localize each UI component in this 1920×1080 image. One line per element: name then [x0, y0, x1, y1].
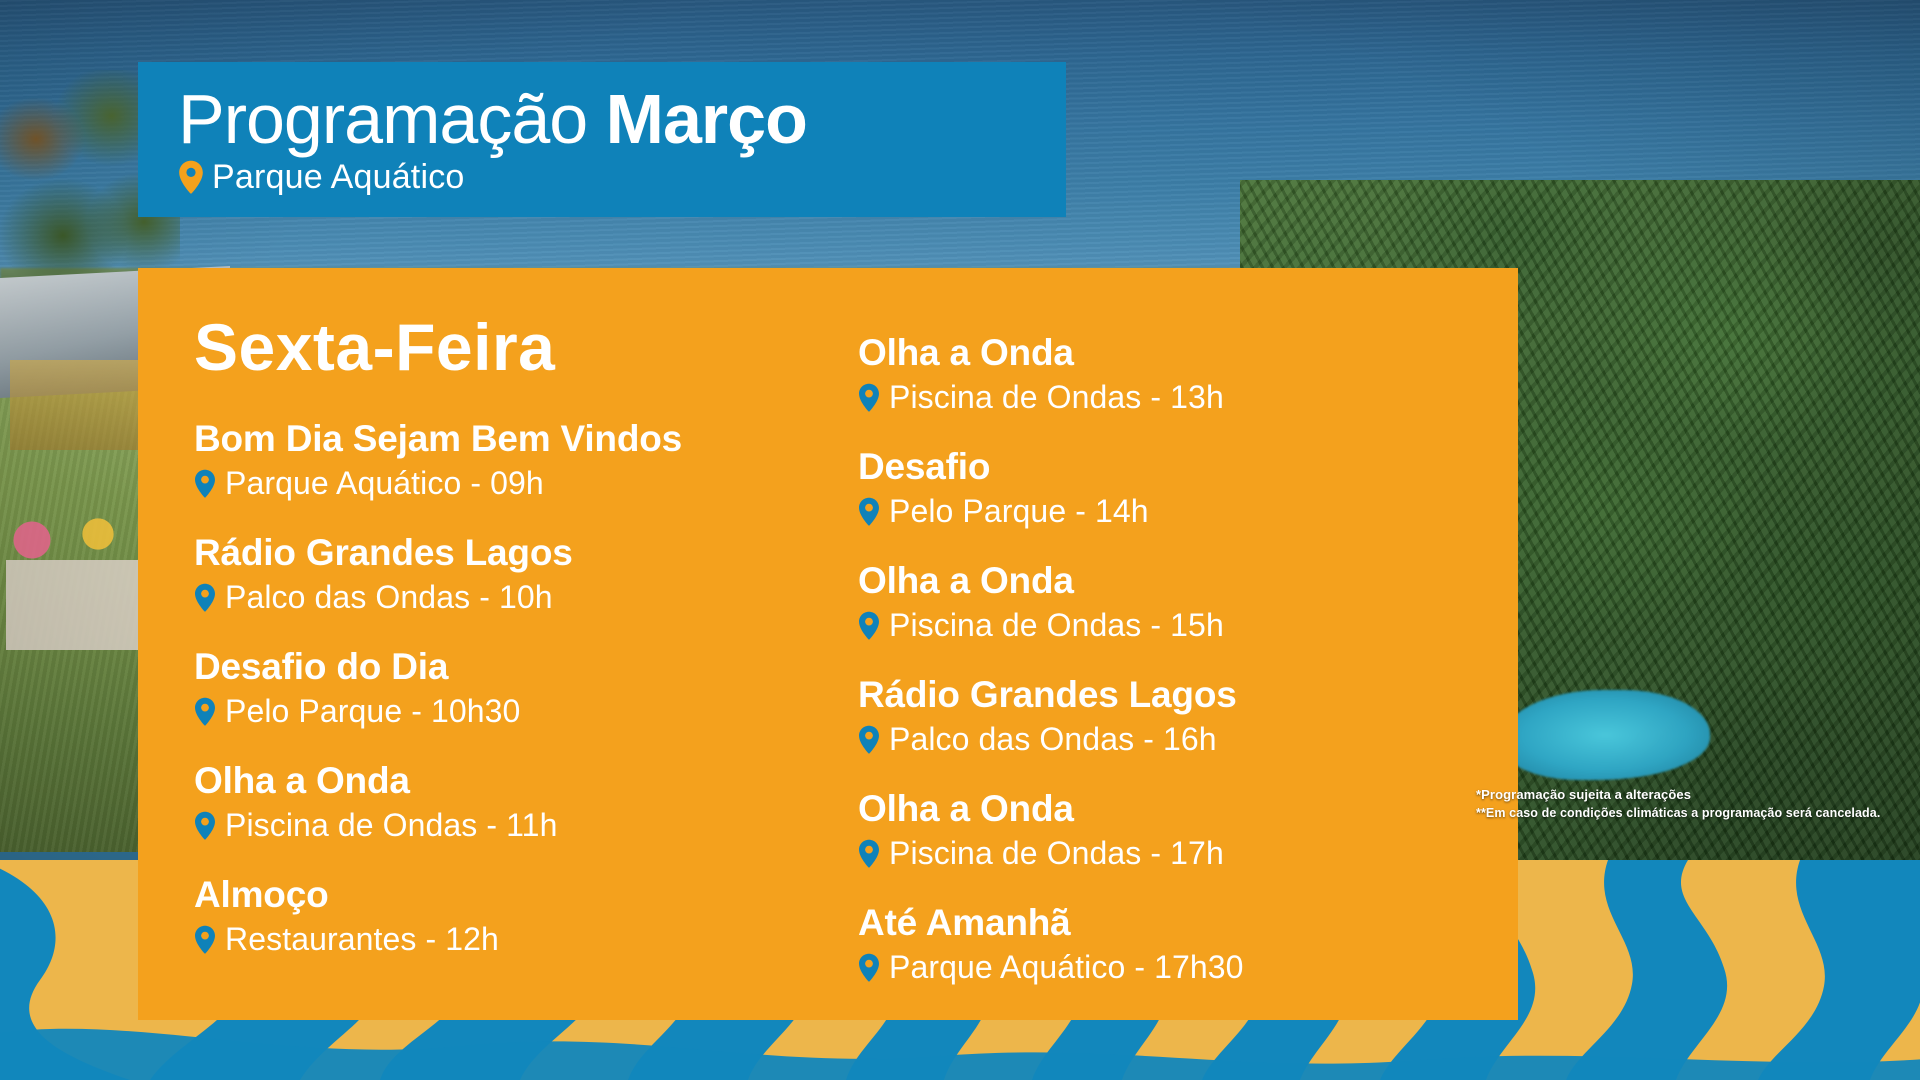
map-pin-icon: [858, 497, 880, 526]
event-location-label: Palco das Ondas - 16h: [889, 719, 1217, 759]
map-pin-icon: [194, 697, 216, 726]
schedule-item: Rádio Grandes Lagos Palco das Ondas - 10…: [194, 530, 798, 617]
event-location: Parque Aquático - 09h: [194, 463, 798, 503]
event-name: Olha a Onda: [194, 758, 798, 803]
pool-water: [1500, 690, 1710, 780]
day-title: Sexta-Feira: [194, 312, 798, 382]
event-location: Pelo Parque - 10h30: [194, 691, 798, 731]
event-name: Almoço: [194, 872, 798, 917]
event-location: Pelo Parque - 14h: [858, 491, 1462, 531]
event-location-label: Palco das Ondas - 10h: [225, 577, 553, 617]
map-pin-icon: [858, 611, 880, 640]
event-name: Olha a Onda: [858, 786, 1462, 831]
event-name: Olha a Onda: [858, 330, 1462, 375]
schedule-column-afternoon: Olha a Onda Piscina de Ondas - 13h Desaf…: [858, 312, 1462, 990]
event-location: Piscina de Ondas - 11h: [194, 805, 798, 845]
title-regular-part: Programação: [178, 80, 606, 158]
header-location: Parque Aquático: [178, 156, 1026, 198]
map-pin-icon: [858, 839, 880, 868]
schedule-item: Bom Dia Sejam Bem Vindos Parque Aquático…: [194, 416, 798, 503]
disclaimer-line-1: *Programação sujeita a alterações: [1476, 786, 1896, 804]
schedule-item: Olha a Onda Piscina de Ondas - 15h: [858, 558, 1462, 645]
event-location-label: Parque Aquático - 17h30: [889, 947, 1244, 987]
map-pin-icon: [858, 383, 880, 412]
schedule-item: Rádio Grandes Lagos Palco das Ondas - 16…: [858, 672, 1462, 759]
schedule-item: Desafio do Dia Pelo Parque - 10h30: [194, 644, 798, 731]
event-location: Restaurantes - 12h: [194, 919, 798, 959]
event-location-label: Restaurantes - 12h: [225, 919, 499, 959]
event-name: Desafio do Dia: [194, 644, 798, 689]
event-location-label: Pelo Parque - 14h: [889, 491, 1149, 531]
schedule-item: Desafio Pelo Parque - 14h: [858, 444, 1462, 531]
schedule-item: Olha a Onda Piscina de Ondas - 17h: [858, 786, 1462, 873]
header-location-label: Parque Aquático: [212, 156, 465, 198]
event-name: Rádio Grandes Lagos: [858, 672, 1462, 717]
map-pin-icon: [194, 469, 216, 498]
event-location-label: Piscina de Ondas - 13h: [889, 377, 1224, 417]
map-pin-icon: [194, 925, 216, 954]
map-pin-icon: [178, 160, 204, 194]
schedule-column-morning: Sexta-Feira Bom Dia Sejam Bem Vindos Par…: [194, 312, 798, 990]
event-name: Desafio: [858, 444, 1462, 489]
playground: [6, 500, 146, 650]
schedule-item: Olha a Onda Piscina de Ondas - 13h: [858, 330, 1462, 417]
event-name: Olha a Onda: [858, 558, 1462, 603]
event-location: Palco das Ondas - 10h: [194, 577, 798, 617]
event-location-label: Parque Aquático - 09h: [225, 463, 544, 503]
event-location: Piscina de Ondas - 13h: [858, 377, 1462, 417]
event-name: Rádio Grandes Lagos: [194, 530, 798, 575]
event-location: Piscina de Ondas - 15h: [858, 605, 1462, 645]
event-location-label: Piscina de Ondas - 11h: [225, 805, 557, 845]
event-location-label: Piscina de Ondas - 17h: [889, 833, 1224, 873]
disclaimer-line-2: **Em caso de condições climáticas a prog…: [1476, 804, 1896, 822]
event-location: Piscina de Ondas - 17h: [858, 833, 1462, 873]
event-location-label: Piscina de Ondas - 15h: [889, 605, 1224, 645]
header-banner: Programação Março Parque Aquático: [138, 62, 1066, 217]
poster-canvas: Programação Março Parque Aquático Sexta-…: [0, 0, 1920, 1080]
map-pin-icon: [858, 725, 880, 754]
map-pin-icon: [194, 811, 216, 840]
event-location: Parque Aquático - 17h30: [858, 947, 1462, 987]
schedule-item: Até Amanhã Parque Aquático - 17h30: [858, 900, 1462, 987]
map-pin-icon: [858, 953, 880, 982]
schedule-item: Olha a Onda Piscina de Ondas - 11h: [194, 758, 798, 845]
title-month-part: Março: [606, 80, 807, 158]
map-pin-icon: [194, 583, 216, 612]
event-location-label: Pelo Parque - 10h30: [225, 691, 520, 731]
event-location: Palco das Ondas - 16h: [858, 719, 1462, 759]
disclaimer: *Programação sujeita a alterações **Em c…: [1476, 786, 1896, 822]
schedule-panel: Sexta-Feira Bom Dia Sejam Bem Vindos Par…: [138, 268, 1518, 1020]
page-title: Programação Março: [178, 80, 1026, 158]
event-name: Bom Dia Sejam Bem Vindos: [194, 416, 798, 461]
event-name: Até Amanhã: [858, 900, 1462, 945]
schedule-item: Almoço Restaurantes - 12h: [194, 872, 798, 959]
